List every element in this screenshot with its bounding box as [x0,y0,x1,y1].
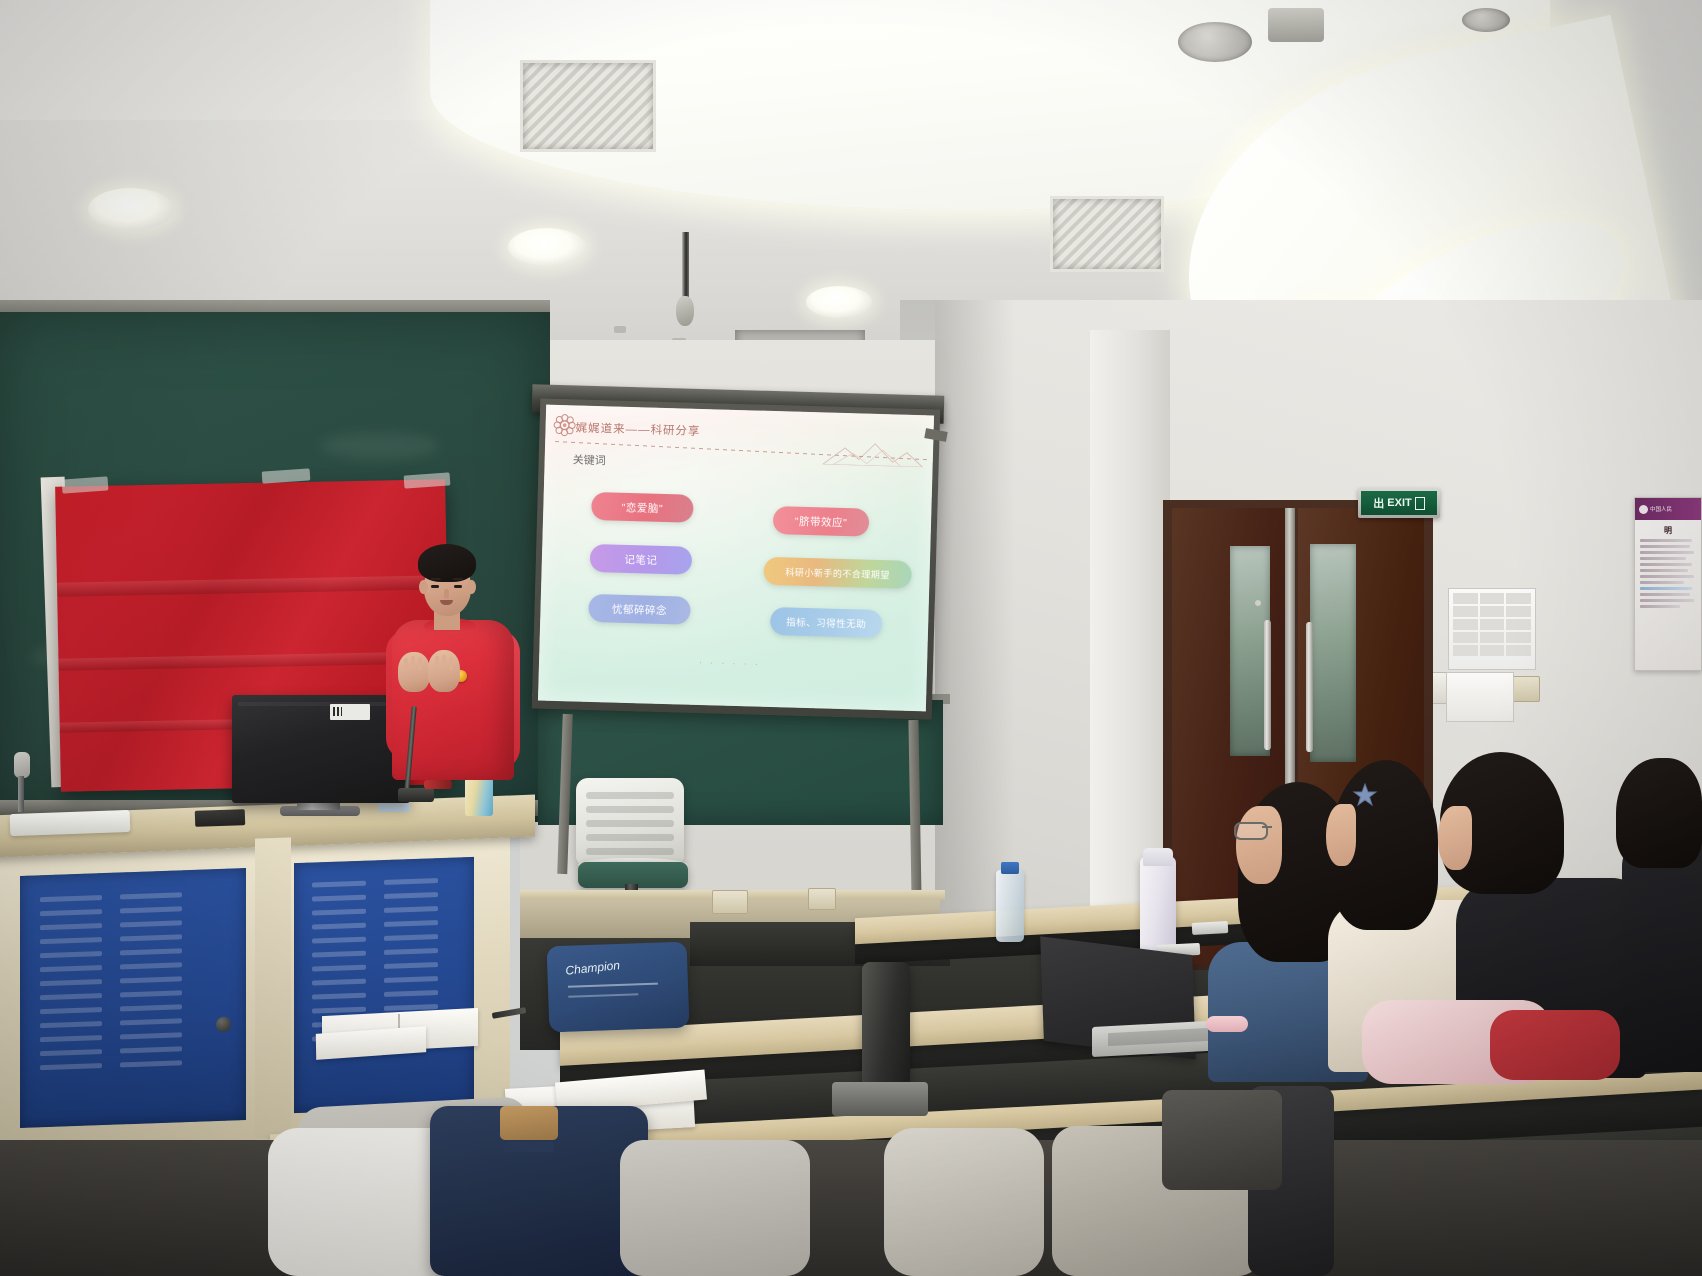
poster-org-logo-icon [1639,505,1648,514]
slide-section-label: 关键词 [572,451,605,468]
light-garment-front [884,1128,1044,1276]
drink-cup [465,778,493,816]
door-handle-right[interactable] [1306,622,1313,752]
keyword-chip-4: 科研小新手的不合理期望 [763,557,912,589]
mountain-decoration-icon [823,438,924,467]
ceiling-speaker-2 [1462,8,1510,32]
champion-bag: Champion [547,942,690,1033]
door-handle-left[interactable] [1264,620,1271,750]
podium-mic-stem-left [18,776,24,812]
presenter-brow-left [431,578,441,580]
black-thermos [862,962,910,1088]
water-bottle [996,870,1024,942]
poster-header-band: 中国人民 [1635,498,1701,520]
presenter-brow-right [453,578,463,580]
gooseneck-microphone-base [398,788,434,802]
star-hair-clip-icon [1352,782,1378,808]
student-far-right-body [1622,836,1702,1072]
wall-poster-right: 中国人民 明 [1634,497,1702,671]
door-lock-icon [1255,600,1261,606]
hanging-microphone-1 [676,296,694,326]
student-far-right-hair [1616,758,1702,868]
student-cream-face [1326,804,1356,866]
downlight-1 [88,188,174,230]
bag-brand-text: Champion [565,958,621,978]
podium-cabinet-left[interactable] [20,868,246,1128]
presenter-hair [418,544,476,582]
keyword-chip-5: 忧郁碎碎念 [588,594,691,625]
flower-emblem-icon [551,412,578,439]
qr-code-icon [333,707,342,716]
student-black-shirt-face [1438,806,1472,870]
student-glasses-icon [1234,822,1268,840]
podium-microphone-left[interactable] [14,752,30,778]
front-floor [0,1140,1702,1276]
ceiling-air-vent-2 [1050,196,1164,272]
purple-thermos-lid [1143,848,1173,866]
keyword-chip-2: "脐带效应" [773,506,870,537]
presenter-eye-right [454,585,462,588]
ceiling-fixture-box [1268,8,1324,42]
ceiling-speaker-1 [1178,22,1252,62]
keyword-chip-1: "恋爱脑" [591,492,694,523]
keyword-chip-3: 记笔记 [590,544,693,575]
sprinkler-head-2 [614,326,626,333]
pink-accessory [1206,1016,1248,1032]
exit-prefix-char: 出 [1373,495,1384,511]
presenter-ear-right [467,580,476,594]
downlight-2 [508,228,586,266]
presenter-eye-left [431,585,439,588]
monitor-bezel-highlight [238,702,404,706]
slide-footer-dots: · · · · · · [699,657,761,669]
downlight-3 [806,286,872,318]
door-window-right [1310,544,1356,762]
backpack-strap [504,1142,554,1152]
lectern-monitor[interactable] [232,695,410,803]
bag-front-right [1162,1090,1282,1190]
water-bottle-cap [1001,862,1019,874]
mic-cable [424,780,452,789]
podium-control-box[interactable] [195,809,246,827]
exit-label: EXIT [1387,497,1411,509]
red-garment-on-desk [1490,1010,1620,1080]
presenter-chair[interactable] [576,778,684,866]
projected-slide: 娓娓道来——科研分享 关键词 "恋爱脑" "脐带效应" 记笔记 科研小新手的不合… [538,405,934,712]
wall-notice-left [1448,588,1536,670]
glasses-bridge [1262,826,1272,828]
exit-sign: 出 EXIT [1358,488,1440,518]
keyword-chip-6: 指标、习得性无助 [770,607,883,638]
wall-socket-2[interactable] [808,888,836,910]
hanging-microphone-cable-1 [682,232,689,304]
black-thermos-holder [832,1082,928,1116]
phone-on-desk[interactable] [1192,921,1229,935]
podium-cabinet-right[interactable] [294,857,474,1113]
podium-papers [10,810,131,836]
wall-notice-small [1446,672,1514,722]
student-denim-face [1236,806,1282,884]
wall-socket-1[interactable] [712,890,748,914]
poster-title: 明 [1635,525,1701,536]
grey-bag-front [620,1140,810,1276]
backpack-tan-patch [500,1106,558,1140]
presenter-nose [444,589,449,599]
poster-org-name: 中国人民 [1650,505,1672,513]
classroom-photo: 娓娓道来——科研分享 关键词 "恋爱脑" "脐带效应" 记笔记 科研小新手的不合… [0,0,1702,1276]
lecture-podium-divider [255,837,291,1138]
ceiling-air-vent-1 [520,60,656,152]
exit-door-icon [1415,497,1425,510]
wall-switch-2[interactable] [1512,676,1540,702]
presenter-ear-left [419,580,428,594]
podium-lock-knob[interactable] [216,1017,231,1033]
